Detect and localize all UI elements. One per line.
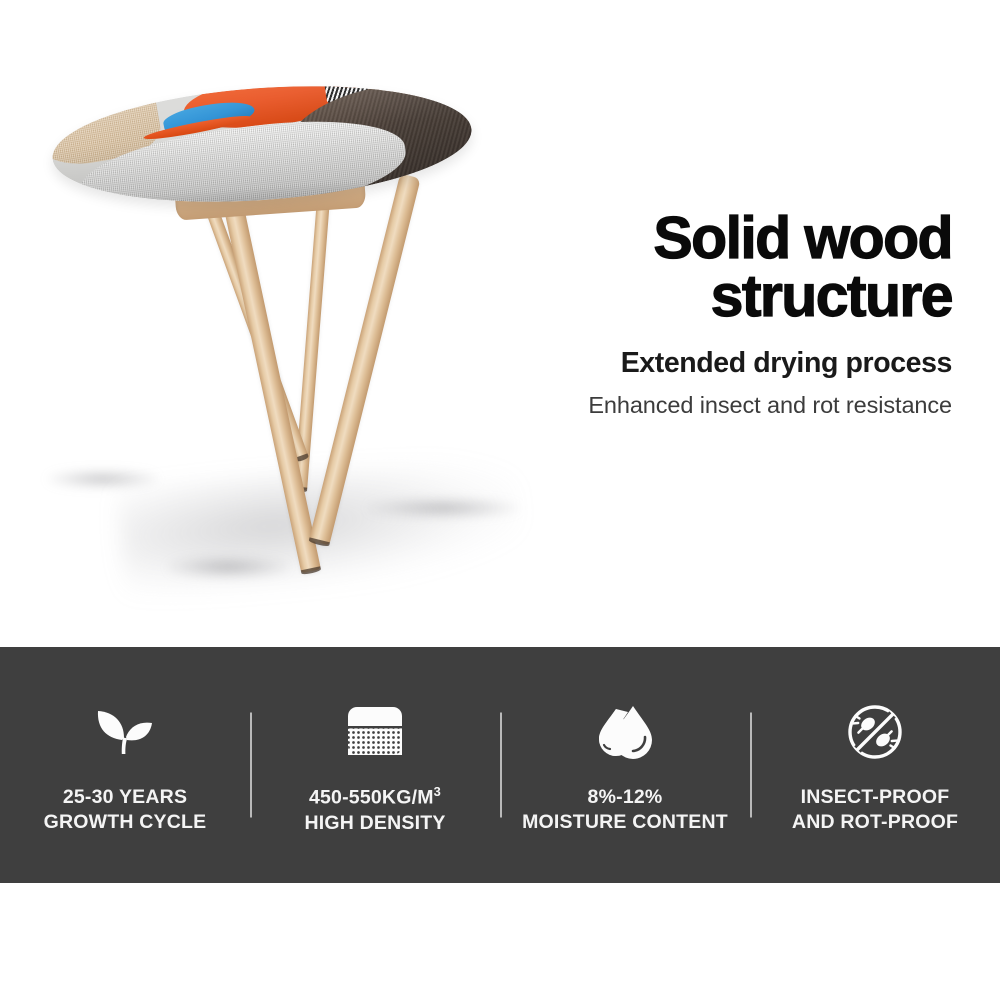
- leg-shadow: [168, 556, 288, 578]
- feature-growth-cycle: 25-30 YEARS GROWTH CYCLE: [0, 647, 250, 883]
- hero-section: Solid wood structure Extended drying pro…: [0, 0, 1000, 647]
- feature-moisture-content: 8%-12% MOISTURE CONTENT: [500, 647, 750, 883]
- feature-high-density: 450-550KG/M3 HIGH DENSITY: [250, 647, 500, 883]
- water-droplets-icon: [593, 701, 657, 763]
- density-exponent: 3: [434, 784, 441, 799]
- feature-label-line-1: 450-550KG/M3: [304, 784, 445, 810]
- headline-line-1: Solid wood: [653, 205, 952, 271]
- leg-shadow: [48, 470, 158, 488]
- feature-insect-rot-proof: INSECT-PROOF AND ROT-PROOF: [750, 647, 1000, 883]
- subheadline: Extended drying process: [532, 348, 952, 379]
- feature-label-line-1: 25-30 YEARS: [44, 785, 207, 810]
- feature-label-line-1: 8%-12%: [522, 785, 728, 810]
- feature-bar: 25-30 YEARS GROWTH CYCLE: [0, 647, 1000, 883]
- product-feature-banner: Solid wood structure Extended drying pro…: [0, 0, 1000, 1000]
- feature-label: INSECT-PROOF AND ROT-PROOF: [792, 785, 958, 835]
- density-value: 450-550KG/M: [309, 787, 434, 809]
- headline-line-2: structure: [532, 268, 952, 326]
- feature-label: 450-550KG/M3 HIGH DENSITY: [304, 784, 445, 835]
- feature-label-line-2: HIGH DENSITY: [304, 811, 445, 836]
- feature-label: 8%-12% MOISTURE CONTENT: [522, 785, 728, 835]
- feature-label-line-2: GROWTH CYCLE: [44, 810, 207, 835]
- feature-label-line-2: AND ROT-PROOF: [792, 810, 958, 835]
- no-insect-icon: [843, 701, 907, 763]
- product-photo: [0, 0, 560, 647]
- hero-text-block: Solid wood structure Extended drying pro…: [532, 210, 952, 419]
- leaf-sprout-icon: [93, 701, 157, 763]
- supporting-text: Enhanced insect and rot resistance: [532, 393, 952, 419]
- feature-label-line-2: MOISTURE CONTENT: [522, 810, 728, 835]
- page-title: Solid wood structure: [532, 210, 952, 326]
- leg-shadow: [368, 498, 518, 518]
- density-block-icon: [343, 700, 407, 762]
- feature-label: 25-30 YEARS GROWTH CYCLE: [44, 785, 207, 835]
- feature-label-line-1: INSECT-PROOF: [792, 785, 958, 810]
